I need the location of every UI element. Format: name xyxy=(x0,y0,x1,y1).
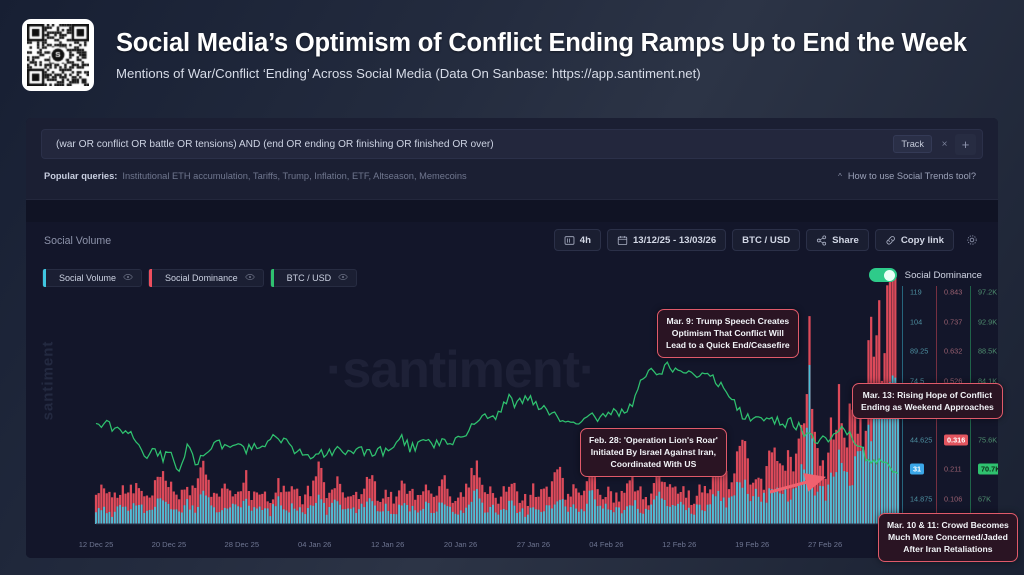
legend-item-btc-usd[interactable]: BTC / USD xyxy=(270,269,358,287)
chart-toolbar: 4h 13/12/25 - 13/03/26 BTC / USD xyxy=(554,229,984,251)
x-axis-tick: 04 Jan 26 xyxy=(298,540,331,549)
panel-divider-strip xyxy=(26,200,998,222)
annotation-mar1011: Mar. 10 & 11: Crowd Becomes Much More Co… xyxy=(878,513,1018,562)
legend-color-swatch xyxy=(271,269,274,287)
interval-button[interactable]: 4h xyxy=(554,229,601,251)
right-axis-tick: 97.2K xyxy=(978,288,997,297)
x-axis-tick: 12 Jan 26 xyxy=(371,540,404,549)
chevron-up-icon: ^ xyxy=(838,172,842,181)
annotation-line: Feb. 28: 'Operation Lion's Roar' xyxy=(589,434,718,446)
right-axis-tick: 119 xyxy=(910,288,922,297)
right-axis-tick: 104 xyxy=(910,317,922,326)
track-button[interactable]: Track xyxy=(893,135,932,153)
right-axis-tick: 0.843 xyxy=(944,288,962,297)
annotation-feb28: Feb. 28: 'Operation Lion's Roar' Initiat… xyxy=(580,428,727,477)
right-axis-tick: 0.211 xyxy=(944,465,962,474)
x-axis-tick: 28 Dec 25 xyxy=(225,540,260,549)
right-axis-tick: 92.9K xyxy=(978,317,997,326)
x-axis-tick: 12 Dec 25 xyxy=(79,540,114,549)
popular-queries: Popular queries: Institutional ETH accum… xyxy=(44,171,467,181)
interval-icon xyxy=(564,235,575,246)
calendar-icon xyxy=(617,235,628,246)
right-axis-tick: 31 xyxy=(910,465,924,474)
chart-header: Social Volume 4h 13/12/25 - 13/03/26 xyxy=(26,222,998,262)
date-range-label: 13/12/25 - 13/03/26 xyxy=(633,235,716,246)
social-dominance-toggle[interactable]: Social Dominance xyxy=(869,268,982,282)
chart-title: Social Volume xyxy=(44,235,111,247)
x-axis-tick: 27 Feb 26 xyxy=(808,540,842,549)
gear-icon xyxy=(966,234,978,246)
annotation-mar13: Mar. 13: Rising Hope of Conflict Ending … xyxy=(852,383,1003,419)
x-axis-tick: 12 Feb 26 xyxy=(662,540,696,549)
x-axis-tick: 04 Feb 26 xyxy=(589,540,623,549)
right-axis-tick: 75.6K xyxy=(978,435,997,444)
search-bar[interactable]: (war OR conflict OR battle OR tensions) … xyxy=(41,129,983,159)
settings-button[interactable] xyxy=(960,229,984,251)
annotation-mar9: Mar. 9: Trump Speech Creates Optimism Th… xyxy=(657,309,799,358)
page-title: Social Media’s Optimism of Conflict Endi… xyxy=(116,29,967,57)
series-btc-usd xyxy=(96,362,898,473)
interval-label: 4h xyxy=(580,235,591,246)
legend-label: Social Dominance xyxy=(159,273,238,283)
right-axis-tick: 0.316 xyxy=(944,435,968,444)
legend-item-social-dominance[interactable]: Social Dominance xyxy=(148,269,264,287)
annotation-line: Much More Concerned/Jaded xyxy=(887,531,1009,543)
toggle-switch[interactable] xyxy=(869,268,897,282)
poster-canvas: Social Media’s Optimism of Conflict Endi… xyxy=(0,0,1024,575)
chart-legend: Social Volume Social Dominance xyxy=(42,269,357,287)
annotation-line: Mar. 13: Rising Hope of Conflict xyxy=(861,389,994,401)
right-axis-tick: 0.737 xyxy=(944,317,962,326)
annotation-line: After Iran Retaliations xyxy=(887,543,1009,555)
right-axis-tick: 0.632 xyxy=(944,347,962,356)
annotation-line: Optimism That Conflict Will xyxy=(666,327,790,339)
x-axis-tick: 20 Dec 25 xyxy=(152,540,187,549)
right-axis-tick: 89.25 xyxy=(910,347,928,356)
link-icon xyxy=(885,235,896,246)
popular-queries-label: Popular queries: xyxy=(44,171,117,181)
axis-highlight-value: 0.316 xyxy=(944,434,968,445)
right-axis-tick: 70.7K xyxy=(978,465,998,474)
legend-label: Social Volume xyxy=(53,273,116,283)
search-input[interactable]: (war OR conflict OR battle OR tensions) … xyxy=(48,139,893,150)
copy-link-button[interactable]: Copy link xyxy=(875,229,954,251)
annotation-line: Initiated By Israel Against Iran, xyxy=(589,446,718,458)
share-label: Share xyxy=(832,235,859,246)
popular-queries-list[interactable]: Institutional ETH accumulation, Tariffs,… xyxy=(122,171,466,181)
axis-highlight-value: 31 xyxy=(910,464,924,475)
annotation-line: Coordinated With US xyxy=(589,458,718,470)
legend-color-swatch xyxy=(149,269,152,287)
santiment-app-panel: (war OR conflict OR battle OR tensions) … xyxy=(26,118,998,558)
search-area: (war OR conflict OR battle OR tensions) … xyxy=(26,118,998,200)
legend-label: BTC / USD xyxy=(281,273,332,283)
right-axis-tick: 0.106 xyxy=(944,494,962,503)
legend-color-swatch xyxy=(43,269,46,287)
annotation-line: Lead to a Quick End/Ceasefire xyxy=(666,339,790,351)
legend-item-social-volume[interactable]: Social Volume xyxy=(42,269,142,287)
eye-icon[interactable] xyxy=(338,272,348,284)
eye-icon[interactable] xyxy=(123,272,133,284)
x-axis-tick: 20 Jan 26 xyxy=(444,540,477,549)
eye-icon[interactable] xyxy=(245,272,255,284)
asset-label: BTC / USD xyxy=(742,235,790,246)
clear-query-icon[interactable]: × xyxy=(936,136,953,153)
chart-x-axis: 12 Dec 2520 Dec 2528 Dec 2504 Jan 2612 J… xyxy=(26,536,998,558)
page-subtitle: Mentions of War/Conflict ‘Ending’ Across… xyxy=(116,66,967,81)
right-axis-tick: 14.875 xyxy=(910,494,932,503)
axis-highlight-value: 70.7K xyxy=(978,464,998,475)
right-axis-tick: 44.625 xyxy=(910,435,932,444)
annotation-line: Ending as Weekend Approaches xyxy=(861,401,994,413)
how-to-use-label: How to use Social Trends tool? xyxy=(848,171,976,181)
qr-code-icon[interactable] xyxy=(22,19,94,91)
annotation-line: Mar. 10 & 11: Crowd Becomes xyxy=(887,519,1009,531)
date-range-button[interactable]: 13/12/25 - 13/03/26 xyxy=(607,229,726,251)
annotation-line: Mar. 9: Trump Speech Creates xyxy=(666,315,790,327)
share-icon xyxy=(816,235,827,246)
copy-link-label: Copy link xyxy=(901,235,944,246)
share-button[interactable]: Share xyxy=(806,229,869,251)
asset-button[interactable]: BTC / USD xyxy=(732,229,800,251)
toggle-label: Social Dominance xyxy=(905,270,982,281)
how-to-use-link[interactable]: ^ How to use Social Trends tool? xyxy=(838,171,976,181)
right-axis-tick: 67K xyxy=(978,494,991,503)
add-query-button[interactable]: + xyxy=(955,134,976,155)
poster-header: Social Media’s Optimism of Conflict Endi… xyxy=(0,0,1024,110)
x-axis-tick: 27 Jan 26 xyxy=(517,540,550,549)
x-axis-tick: 19 Feb 26 xyxy=(735,540,769,549)
right-axis-tick: 88.5K xyxy=(978,347,997,356)
